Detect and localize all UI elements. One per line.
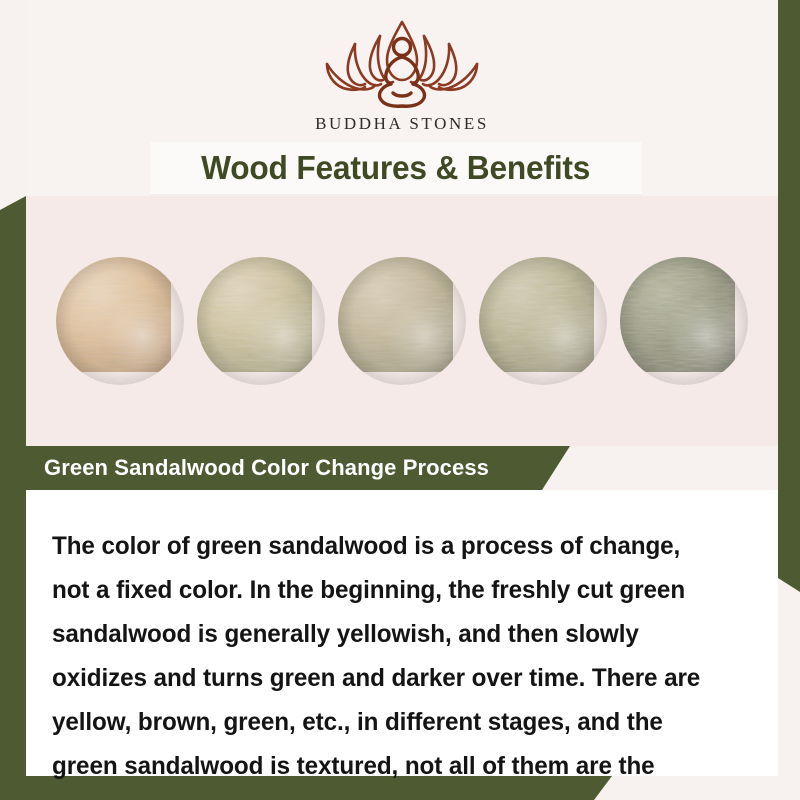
brand-name: BUDDHA STONES [26,114,778,134]
bead-stage-2 [197,257,325,385]
section-header-title: Green Sandalwood Color Change Process [26,455,489,481]
section-body-text: The color of green sandalwood is a proce… [52,524,723,800]
lotus-meditation-icon [307,16,497,112]
bead-stage-3 [338,257,466,385]
bead-stage-1 [56,257,184,385]
bead-row [26,196,778,446]
title-banner: Wood Features & Benefits [150,142,642,194]
bead-stage-5 [620,257,748,385]
frame-accent-right [778,0,800,592]
bead-highlight [56,257,184,385]
page-title: Wood Features & Benefits [201,149,590,187]
bead-gallery-panel [26,196,778,446]
bead-stage-4 [479,257,607,385]
poster-root: BUDDHA STONES Wood Features & Benefits [0,0,800,800]
bead-highlight [620,257,748,385]
section-header-band: Green Sandalwood Color Change Process [26,446,570,490]
section-body-panel: The color of green sandalwood is a proce… [26,490,778,776]
bead-highlight [479,257,607,385]
bead-highlight [338,257,466,385]
bead-highlight [197,257,325,385]
brand-logo: BUDDHA STONES [26,16,778,134]
frame-accent-left [0,196,26,800]
